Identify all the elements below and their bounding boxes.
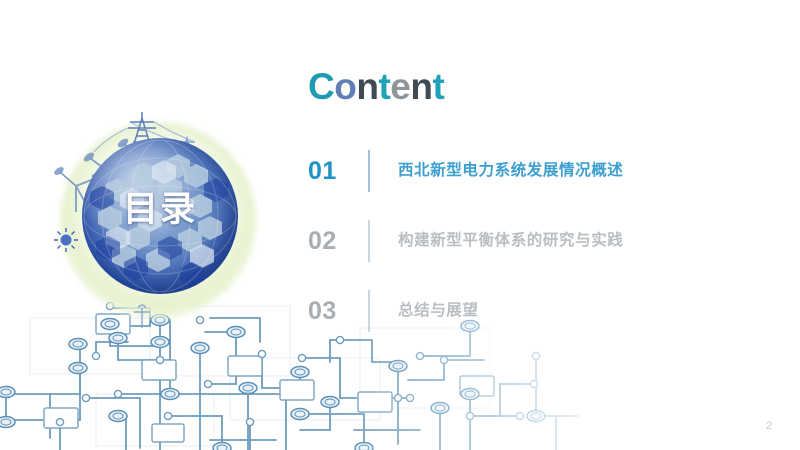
power-pole-icon bbox=[134, 305, 150, 328]
toc-divider bbox=[368, 290, 370, 332]
toc-divider bbox=[368, 220, 370, 262]
sun-icon bbox=[54, 228, 78, 252]
page-title-letter-4: e bbox=[390, 66, 410, 107]
page-title-letter-2: n bbox=[356, 66, 378, 107]
toc-item-03[interactable]: 03 总结与展望 bbox=[308, 289, 768, 333]
page-title-letter-5: n bbox=[410, 66, 432, 107]
page-title-letter-0: C bbox=[308, 66, 334, 107]
content-panel: Content 01 西北新型电力系统发展情况概述 02 构建新型平衡体系的研究… bbox=[308, 68, 768, 359]
toc-item-02[interactable]: 02 构建新型平衡体系的研究与实践 bbox=[308, 219, 768, 263]
slide-canvas: 目录 Content 01 西北新型电力系统发展情况概述 02 构建新型平衡体系… bbox=[0, 0, 800, 450]
page-title-letter-1: o bbox=[334, 66, 356, 107]
page-title-letter-3: t bbox=[378, 66, 390, 107]
globe-sphere: 目录 bbox=[82, 138, 238, 294]
toc-divider bbox=[368, 150, 370, 192]
toc-label: 西北新型电力系统发展情况概述 bbox=[398, 163, 623, 179]
toc-number: 01 bbox=[308, 159, 364, 184]
page-number: 2 bbox=[766, 420, 772, 432]
globe-graphic: 目录 bbox=[46, 108, 276, 333]
page-title-letter-6: t bbox=[432, 66, 444, 107]
toc-label: 总结与展望 bbox=[398, 303, 479, 319]
toc-number: 03 bbox=[308, 299, 364, 324]
toc-label: 构建新型平衡体系的研究与实践 bbox=[398, 233, 623, 249]
page-title: Content bbox=[308, 68, 768, 105]
toc-item-01[interactable]: 01 西北新型电力系统发展情况概述 bbox=[308, 149, 768, 193]
globe-label: 目录 bbox=[82, 192, 238, 227]
toc-number: 02 bbox=[308, 229, 364, 254]
